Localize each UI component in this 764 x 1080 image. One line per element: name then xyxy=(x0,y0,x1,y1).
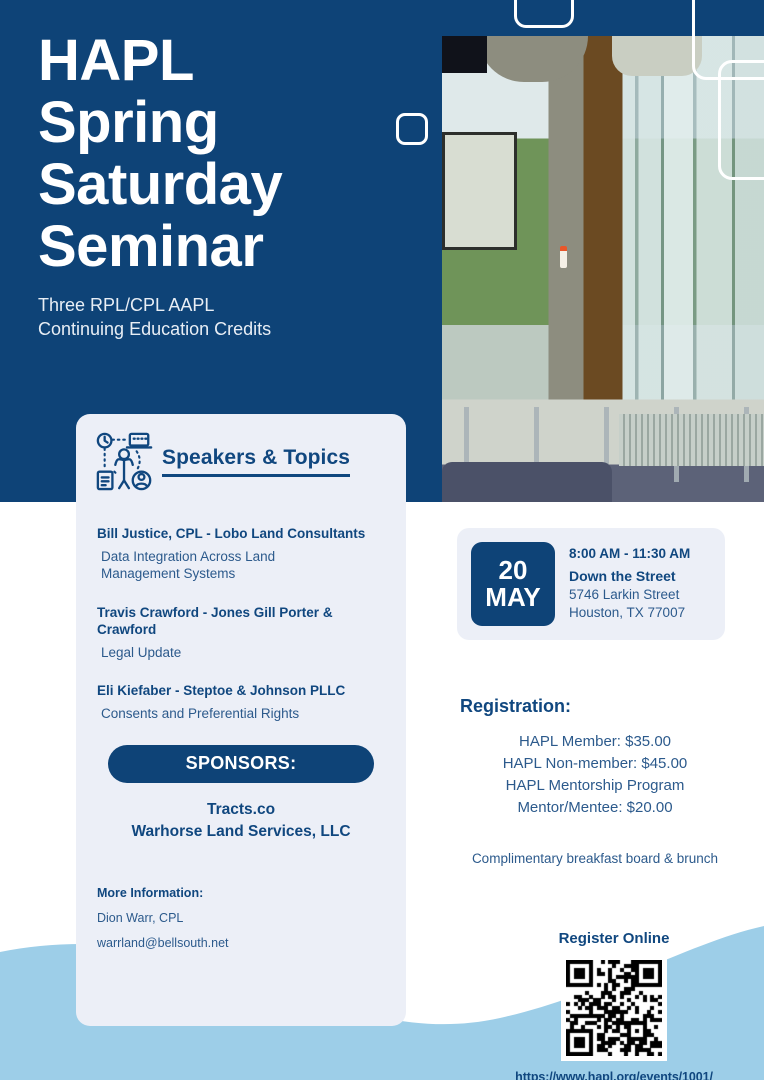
sponsors-banner: SPONSORS: xyxy=(108,745,374,783)
address-line-2: Houston, TX 77007 xyxy=(569,604,690,622)
decorative-rounded-rect-right-bottom xyxy=(718,60,764,180)
photo-wall-monitor xyxy=(442,36,487,73)
hero-text-block: HAPL Spring Saturday Seminar Three RPL/C… xyxy=(38,30,418,342)
venue-address: 5746 Larkin Street Houston, TX 77007 xyxy=(569,586,690,623)
venue-details: 8:00 AM - 11:30 AM Down the Street 5746 … xyxy=(569,546,690,623)
registration-note: Complimentary breakfast board & brunch xyxy=(430,851,760,866)
sponsors-list: Tracts.co Warhorse Land Services, LLC xyxy=(76,799,406,844)
title-line-4: Seminar xyxy=(38,216,418,278)
event-time: 8:00 AM - 11:30 AM xyxy=(569,546,690,561)
register-online-title: Register Online xyxy=(487,930,741,947)
date-day: 20 xyxy=(499,557,528,584)
speakers-topics-icon xyxy=(94,430,156,492)
more-information-block: More Information: Dion Warr, CPL warrlan… xyxy=(76,844,406,950)
subtitle-line-1: Three RPL/CPL AAPL xyxy=(38,294,418,318)
qr-code-container[interactable] xyxy=(561,955,667,1061)
speaker-topic: Data Integration Across Land Management … xyxy=(97,548,386,583)
page-title: HAPL Spring Saturday Seminar xyxy=(38,30,418,278)
venue-name: Down the Street xyxy=(569,568,690,584)
registration-url[interactable]: https://www.hapl.org/events/1001/ xyxy=(487,1070,741,1080)
date-venue-card: 20 MAY 8:00 AM - 11:30 AM Down the Stree… xyxy=(457,528,725,640)
registration-block: Registration: HAPL Member: $35.00 HAPL N… xyxy=(430,696,760,866)
hero-subtitle: Three RPL/CPL AAPL Continuing Education … xyxy=(38,294,418,342)
date-badge: 20 MAY xyxy=(471,542,555,626)
speaker-topic: Consents and Preferential Rights xyxy=(97,705,386,723)
register-online-block: Register Online https://www.hapl.org/eve… xyxy=(487,930,741,1080)
speaker-topic-line: Management Systems xyxy=(101,565,386,583)
title-line-2: Spring xyxy=(38,92,418,154)
speakers-card: Speakers & Topics Bill Justice, CPL - Lo… xyxy=(76,414,406,1026)
photo-projection-screen xyxy=(442,132,517,250)
speaker-name: Bill Justice, CPL - Lobo Land Consultant… xyxy=(97,526,386,543)
speaker-topic-line: Data Integration Across Land xyxy=(101,548,386,566)
title-line-3: Saturday xyxy=(38,154,418,216)
photo-radiator xyxy=(619,414,764,466)
registration-price-line: HAPL Mentorship Program xyxy=(430,775,760,797)
registration-price-line: HAPL Member: $35.00 xyxy=(430,731,760,753)
registration-price-line: Mentor/Mentee: $20.00 xyxy=(430,797,760,819)
speaker-topic: Legal Update xyxy=(97,644,386,662)
sponsor-item: Warhorse Land Services, LLC xyxy=(76,821,406,843)
sponsors-label: SPONSORS: xyxy=(186,753,297,774)
photo-ceiling-ornament xyxy=(612,36,702,76)
more-information-title: More Information: xyxy=(97,886,406,900)
sponsor-item: Tracts.co xyxy=(76,799,406,821)
contact-email[interactable]: warrland@bellsouth.net xyxy=(97,936,406,950)
speaker-name: Travis Crawford - Jones Gill Porter & Cr… xyxy=(97,605,386,639)
decorative-rounded-square-top xyxy=(514,0,574,28)
registration-price-line: HAPL Non-member: $45.00 xyxy=(430,753,760,775)
hero-photo xyxy=(442,36,764,502)
photo-chairs xyxy=(442,462,612,502)
speaker-item: Eli Kiefaber - Steptoe & Johnson PLLC Co… xyxy=(97,683,386,722)
speaker-name: Eli Kiefaber - Steptoe & Johnson PLLC xyxy=(97,683,386,700)
speaker-item: Bill Justice, CPL - Lobo Land Consultant… xyxy=(97,526,386,583)
speaker-item: Travis Crawford - Jones Gill Porter & Cr… xyxy=(97,605,386,661)
speakers-list: Bill Justice, CPL - Lobo Land Consultant… xyxy=(76,492,406,723)
qr-code[interactable] xyxy=(566,960,662,1056)
speakers-card-header: Speakers & Topics xyxy=(76,414,406,492)
registration-title: Registration: xyxy=(430,696,760,717)
subtitle-line-2: Continuing Education Credits xyxy=(38,318,418,342)
speakers-card-title-underline xyxy=(162,474,350,477)
date-month: MAY xyxy=(485,584,540,611)
photo-bottle xyxy=(560,246,567,268)
contact-name: Dion Warr, CPL xyxy=(97,911,406,925)
flyer-canvas: HAPL Spring Saturday Seminar Three RPL/C… xyxy=(0,0,764,1080)
address-line-1: 5746 Larkin Street xyxy=(569,586,690,604)
speakers-card-title-wrap: Speakers & Topics xyxy=(162,446,350,477)
speakers-card-title: Speakers & Topics xyxy=(162,446,350,470)
title-line-1: HAPL xyxy=(38,30,418,92)
